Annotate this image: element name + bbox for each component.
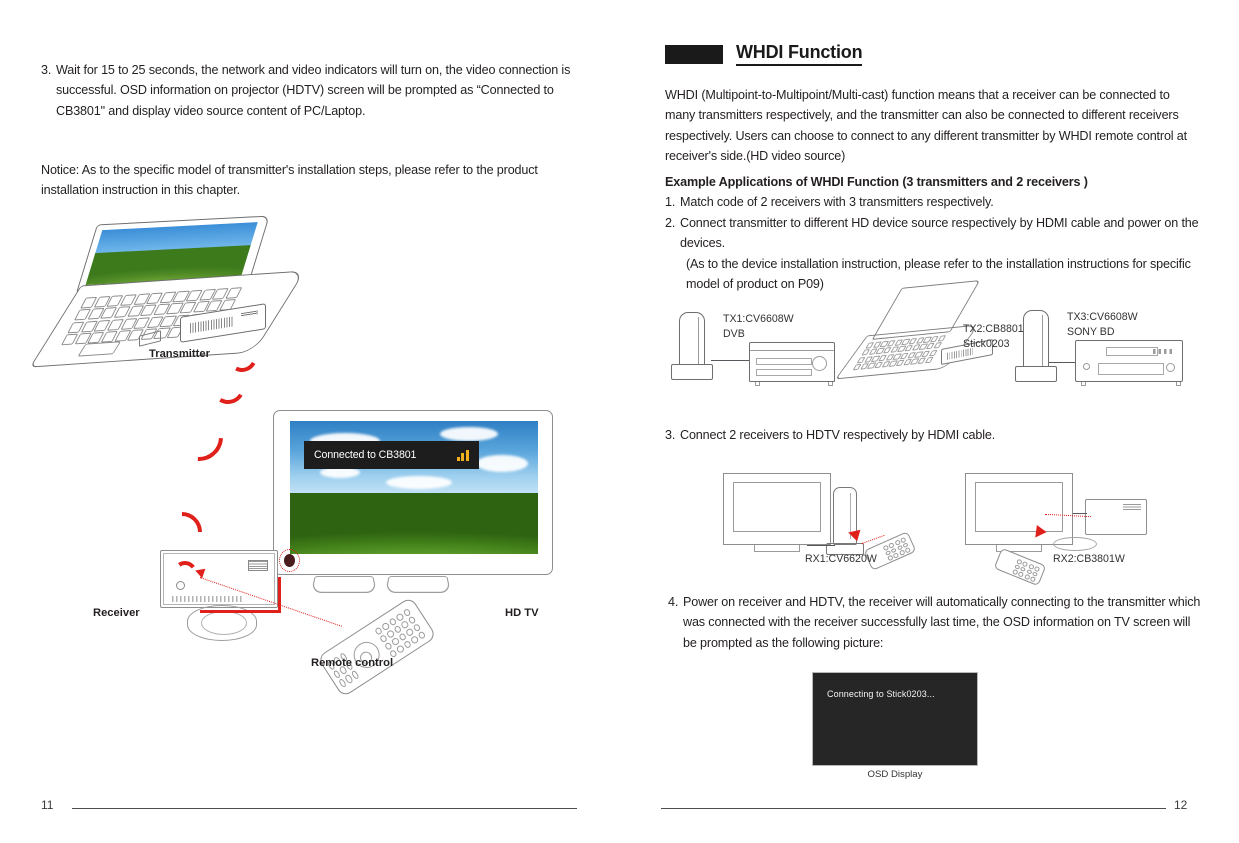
transmitter-label: Transmitter: [149, 348, 210, 360]
hdtv-2: [965, 473, 1073, 545]
tx1-base: [671, 364, 713, 380]
receiver-badge: [248, 560, 268, 571]
step-marker: 3.: [41, 60, 51, 80]
bd-tray: [1106, 347, 1158, 356]
example-step-2: 2. Connect transmitter to different HD d…: [665, 213, 1201, 254]
osd-banner: Connected to CB3801: [304, 441, 479, 469]
right-step-4: 4. Power on receiver and HDTV, the recei…: [668, 592, 1204, 653]
device-foot: [1176, 382, 1181, 386]
osd-caption: OSD Display: [812, 769, 978, 780]
page-number-right: 12: [1174, 798, 1187, 812]
section-title: WHDI Function: [736, 42, 862, 66]
step-text: Connect transmitter to different HD devi…: [680, 216, 1199, 250]
step-text: Power on receiver and HDTV, the receiver…: [683, 595, 1200, 650]
receiver-unit: [160, 550, 278, 608]
tx3-base: [1015, 366, 1057, 382]
hdmi-cable: [278, 577, 281, 613]
example-heading: Example Applications of WHDI Function (3…: [665, 172, 1201, 192]
amp-divider: [750, 350, 834, 351]
step-marker: 3.: [665, 425, 675, 445]
step-text: Connect 2 receivers to HDTV respectively…: [680, 428, 995, 442]
remote-control-illustration: [317, 596, 437, 697]
tx3-cable: [1049, 362, 1077, 363]
rx2-device: [1085, 499, 1147, 535]
tx3-label: TX3:CV6608W SONY BD: [1067, 310, 1138, 339]
tx1-device: [679, 312, 705, 372]
tx3-device: [1023, 310, 1049, 374]
device-foot: [1081, 382, 1086, 386]
left-notice-text: Notice: As to the specific model of tran…: [41, 160, 586, 201]
tx1-cable: [711, 360, 749, 361]
hdtv-screen: Connected to CB3801: [290, 421, 538, 554]
hdtv-stand-right: [385, 576, 451, 593]
section-marker-block: [665, 45, 723, 64]
example-applications-block: Example Applications of WHDI Function (3…: [665, 172, 1201, 294]
step-marker: 2.: [665, 213, 675, 233]
laptop2-keyboard: [853, 335, 947, 370]
amp-slot: [756, 358, 812, 365]
step-text: Wait for 15 to 25 seconds, the network a…: [56, 63, 570, 118]
receivers-diagram: RX1:CV6620W RX2:CB3801W: [665, 465, 1205, 575]
bd-disc-slot: [1098, 363, 1164, 375]
rx2-stand: [1053, 537, 1097, 551]
amp-knob-icon: [812, 356, 827, 371]
wireless-arc-icon: [165, 403, 233, 471]
whdi-intro-text: WHDI (Multipoint-to-Multipoint/Multi-cas…: [665, 85, 1201, 167]
transmitters-diagram: TX1:CV6608W DVB: [665, 300, 1205, 400]
ir-sensor-icon: [284, 554, 295, 567]
section-header: WHDI Function: [665, 42, 862, 66]
remote-keypad: [883, 537, 911, 561]
cloud-shape: [476, 455, 528, 472]
receiver-label: Receiver: [93, 607, 140, 619]
rx1-cable: [807, 545, 835, 546]
osd-screen-text: Connecting to Stick0203...: [827, 689, 935, 699]
ir-arrow-icon: [847, 527, 861, 542]
right-step-3: 3. Connect 2 receivers to HDTV respectiv…: [665, 425, 1201, 445]
rx1-label: RX1:CV6620W: [805, 553, 877, 565]
step-text: Match code of 2 receivers with 3 transmi…: [680, 195, 994, 209]
hdtv-1-stand: [754, 545, 800, 552]
wireless-arc-icon: [207, 366, 248, 407]
bd-control-icon: [1166, 363, 1175, 372]
left-connection-diagram: Transmitter Connected to CB3801: [35, 215, 605, 675]
rx2-label: RX2:CB3801W: [1053, 553, 1125, 565]
osd-banner-text: Connected to CB3801: [314, 449, 449, 461]
step-marker: 1.: [665, 192, 675, 212]
remote-control-label: Remote control: [311, 657, 393, 669]
rx2-cable: [1073, 513, 1087, 514]
device-foot: [828, 382, 833, 386]
manual-page-spread: 3. Wait for 15 to 25 seconds, the networ…: [0, 0, 1239, 843]
footer-rule-left: [72, 808, 577, 809]
left-page: 3. Wait for 15 to 25 seconds, the networ…: [0, 0, 620, 843]
signal-bars-icon: [457, 450, 469, 461]
hdtv-1: [723, 473, 831, 545]
remote-keypad: [374, 608, 426, 658]
device-foot: [755, 382, 760, 386]
receiver-power-icon: [176, 581, 185, 590]
osd-display-figure: Connecting to Stick0203... OSD Display: [812, 672, 978, 782]
hdtv-illustration: Connected to CB3801: [273, 410, 553, 575]
left-step-3: 3. Wait for 15 to 25 seconds, the networ…: [41, 60, 586, 121]
page-number-left: 11: [41, 798, 53, 812]
laptop2-illustration: [855, 294, 965, 380]
hdtv-label: HD TV: [505, 607, 539, 619]
cloud-shape: [386, 476, 452, 489]
rx2-badge: [1123, 504, 1141, 511]
tx1-label: TX1:CV6608W DVB: [723, 312, 794, 341]
cloud-shape: [440, 427, 498, 441]
hdtv-stand-left: [311, 576, 377, 593]
transmitter-logo: [241, 310, 258, 317]
step-marker: 4.: [668, 592, 678, 612]
amp-slot: [756, 369, 812, 376]
sony-bd-device: [1075, 340, 1183, 382]
osd-screen: Connecting to Stick0203...: [812, 672, 978, 766]
example-step-1: 1. Match code of 2 receivers with 3 tran…: [665, 192, 1201, 212]
dvb-receiver-device: [749, 342, 835, 382]
bd-buttons: [1153, 349, 1175, 354]
footer-rule-right: [661, 808, 1166, 809]
receiver-indicator-labels: [172, 596, 244, 602]
bd-control-icon: [1083, 363, 1090, 370]
transmitter-vent: [190, 316, 234, 333]
hdmi-cable: [200, 610, 281, 613]
